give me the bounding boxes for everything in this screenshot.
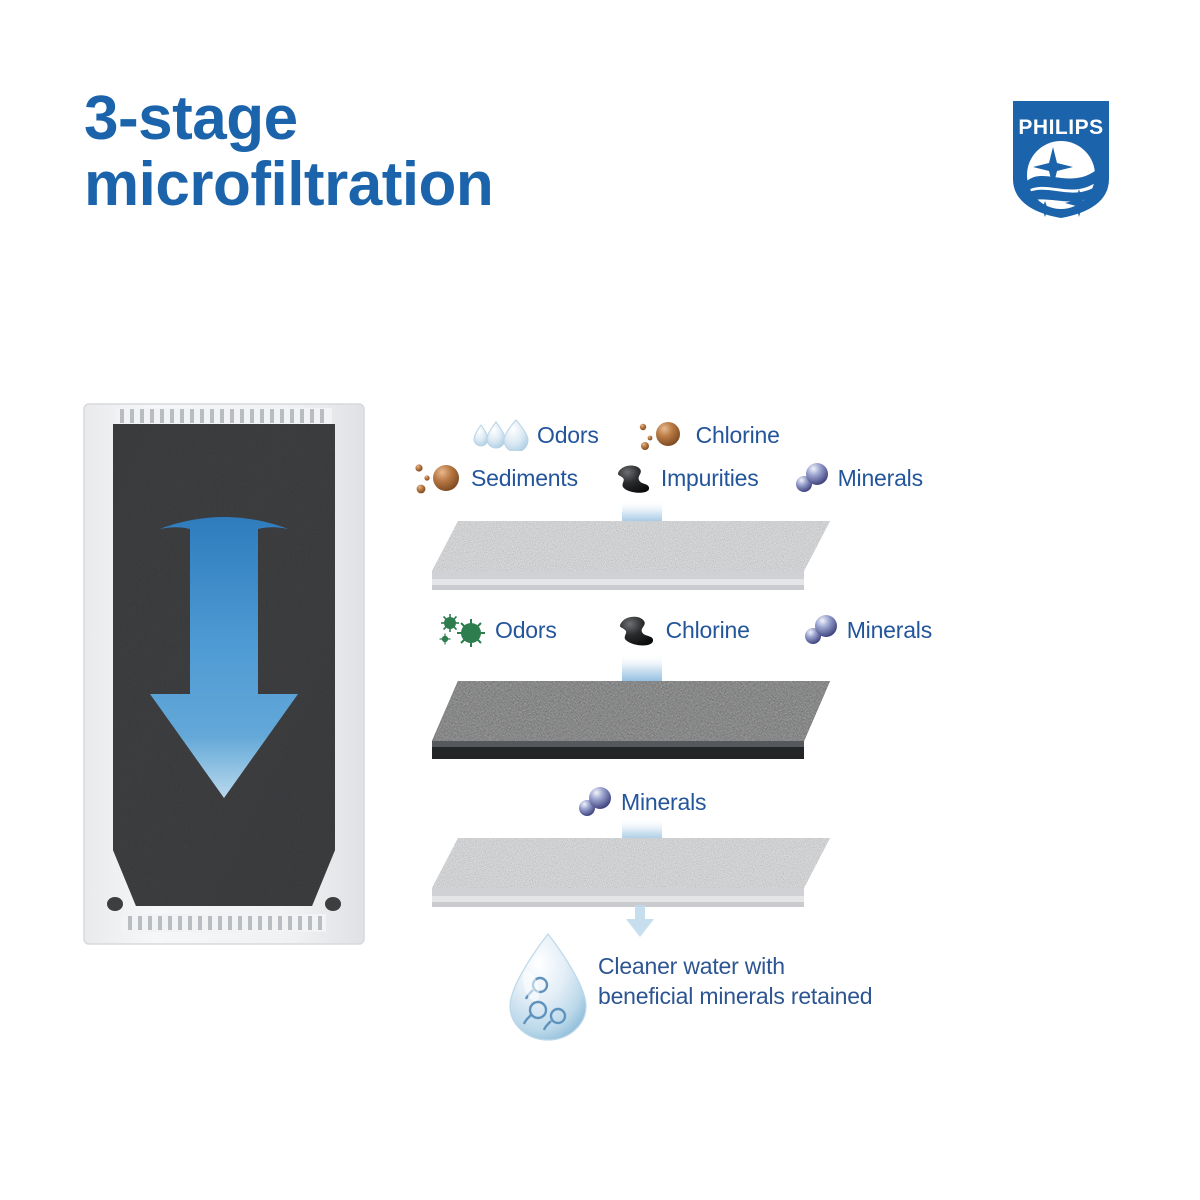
contaminant-minerals-3: Minerals — [576, 786, 706, 818]
black-blob-icon — [612, 462, 654, 494]
contaminant-label: Impurities — [661, 465, 759, 492]
contaminant-odors-2: Odors — [438, 612, 557, 648]
light-granular-slab-stage-1 — [420, 515, 840, 597]
water-droplets-icon — [470, 419, 530, 451]
light-granular-slab-stage-3 — [420, 832, 840, 914]
result-text: Cleaner water with beneficial minerals r… — [598, 952, 872, 1012]
contaminants-before-stage-1-line-2: Sediments Impurities Minerals — [410, 460, 923, 496]
contaminant-label: Sediments — [471, 465, 578, 492]
mineral-spheres-icon — [802, 614, 840, 646]
contaminants-before-stage-1-line-1: Odors Chlorine — [470, 418, 780, 452]
contaminant-label: Minerals — [621, 789, 706, 816]
brown-particles-icon — [635, 418, 689, 452]
contaminant-impurities-1: Impurities — [612, 462, 759, 494]
contaminant-label: Odors — [495, 617, 557, 644]
contaminant-chlorine-1: Chlorine — [635, 418, 780, 452]
brown-particles-icon — [410, 460, 464, 496]
mineral-spheres-icon — [793, 462, 831, 494]
contaminant-odors-1: Odors — [470, 419, 599, 451]
contaminant-minerals-1: Minerals — [793, 462, 923, 494]
contaminant-chlorine-2: Chlorine — [613, 613, 750, 647]
philips-shield-logo: PHILIPS — [1009, 97, 1113, 222]
contaminant-label: Chlorine — [696, 422, 780, 449]
green-microbe-icon — [438, 612, 488, 648]
contaminant-label: Minerals — [838, 465, 923, 492]
contaminant-label: Odors — [537, 422, 599, 449]
water-droplet-with-minerals-icon — [500, 930, 596, 1042]
dark-carbon-slab-stage-2 — [420, 675, 840, 775]
contaminant-label: Minerals — [847, 617, 932, 644]
contaminants-before-stage-2: Odors Chlorine Minerals — [438, 612, 932, 648]
mineral-spheres-icon — [576, 786, 614, 818]
water-filter-cartridge — [80, 398, 368, 950]
philips-wordmark: PHILIPS — [1018, 116, 1103, 139]
contaminant-sediments-1: Sediments — [410, 460, 578, 496]
contaminant-minerals-2: Minerals — [802, 614, 932, 646]
flow-arrow-output — [622, 905, 658, 939]
page-title: 3-stage microfiltration — [84, 86, 493, 217]
black-blob-icon — [613, 613, 659, 647]
contaminants-before-stage-3: Minerals — [576, 786, 706, 818]
contaminant-label: Chlorine — [666, 617, 750, 644]
